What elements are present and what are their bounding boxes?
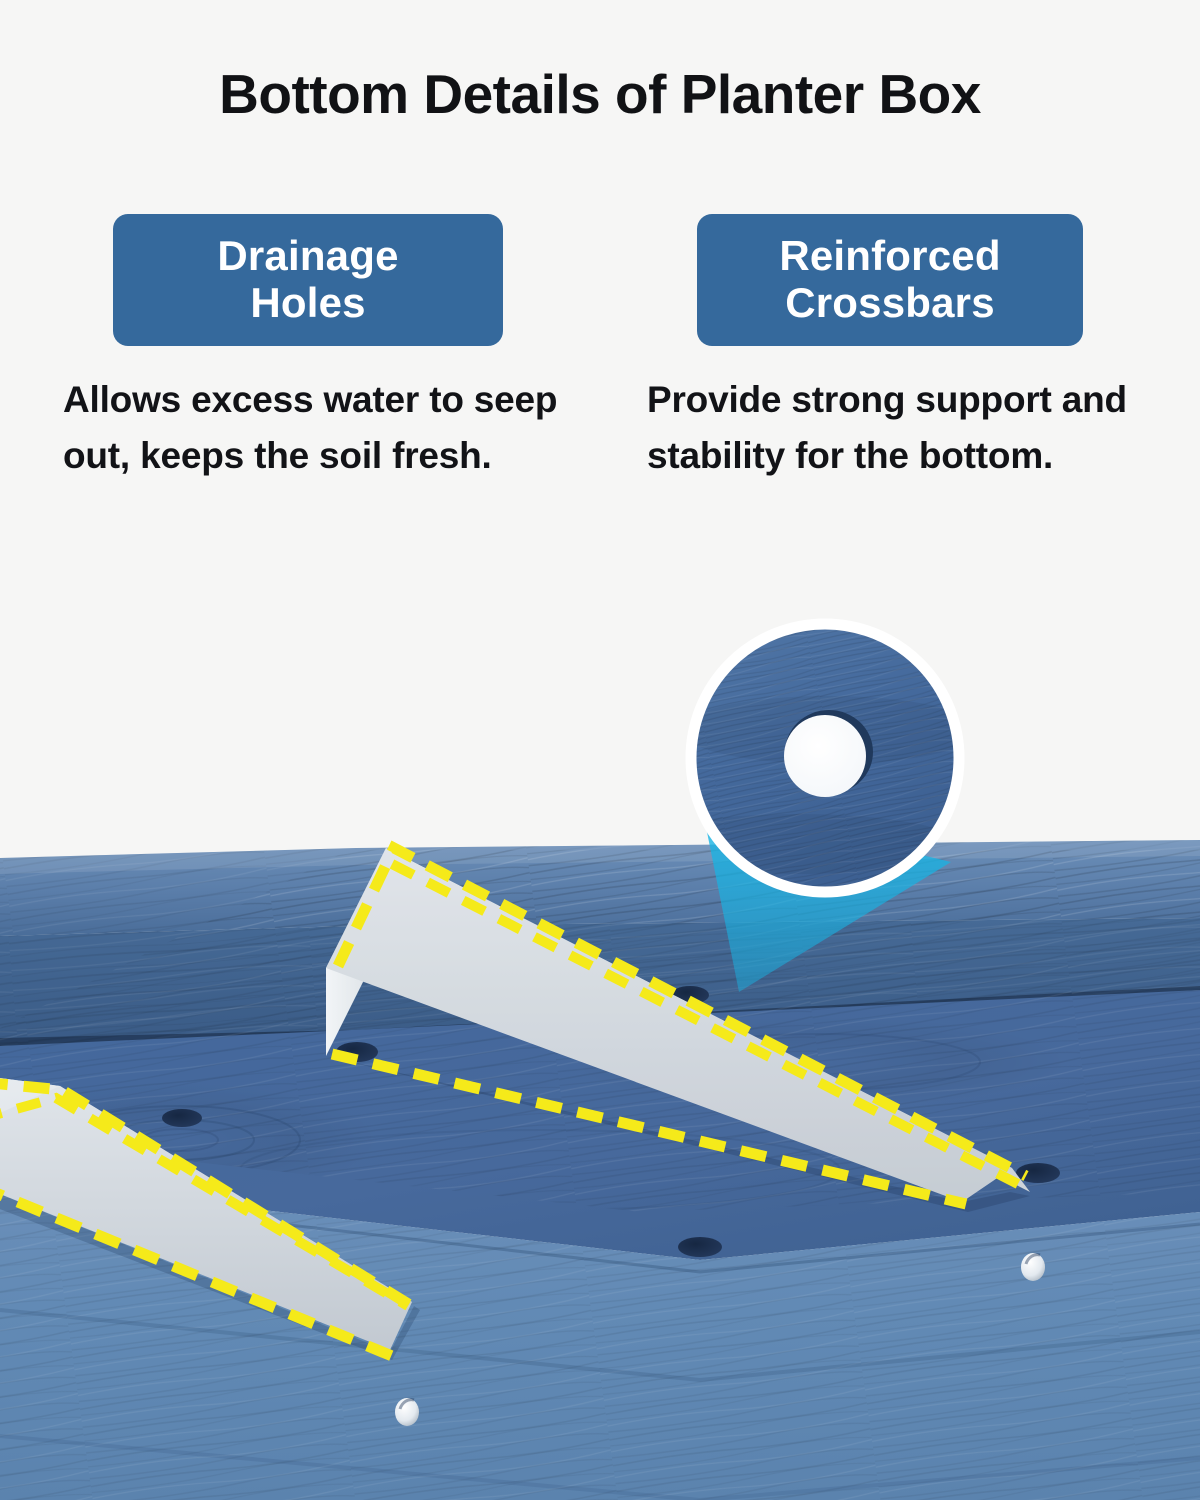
infographic-page: Bottom Details of Planter Box Drainage H… — [0, 0, 1200, 1500]
feature-description-drainage: Allows excess water to seep out, keeps t… — [63, 372, 583, 483]
drainage-hole-magnifier-callout — [679, 612, 971, 904]
drainage-hole — [162, 1109, 202, 1127]
magnifier-lens — [639, 619, 979, 897]
drainage-hole — [678, 1237, 722, 1257]
page-title: Bottom Details of Planter Box — [0, 62, 1200, 126]
badge-reinforced-crossbars: Reinforced Crossbars — [697, 214, 1083, 346]
badge-line-2: Holes — [250, 279, 365, 326]
product-photo-planter-bottom — [0, 840, 1200, 1500]
badge-line-1: Reinforced — [779, 232, 1000, 279]
badge-line-2: Crossbars — [785, 279, 995, 326]
feature-description-crossbars: Provide strong support and stability for… — [647, 372, 1167, 483]
feature-reinforced-crossbars: Reinforced Crossbars Provide strong supp… — [647, 214, 1147, 483]
badge-line-1: Drainage — [217, 232, 398, 279]
feature-drainage-holes: Drainage Holes Allows excess water to se… — [63, 214, 563, 483]
magnified-drainage-hole — [784, 715, 866, 797]
badge-drainage-holes: Drainage Holes — [113, 214, 503, 346]
